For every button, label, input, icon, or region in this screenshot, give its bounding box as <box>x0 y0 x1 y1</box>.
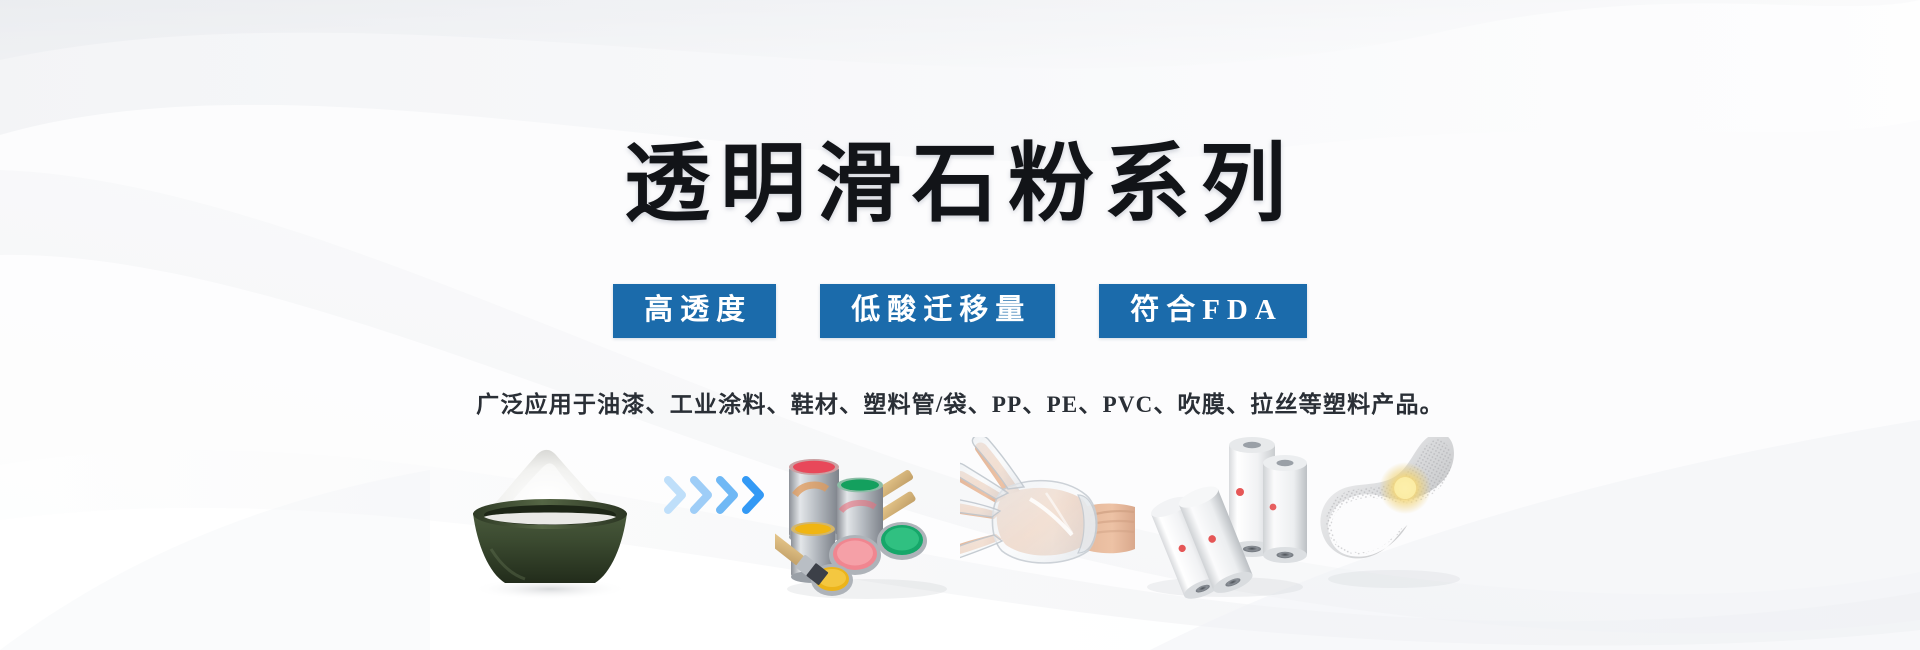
product-image-strip <box>0 432 1920 607</box>
arrow-sequence-icon <box>655 437 775 607</box>
page-title: 透明滑石粉系列 <box>624 136 1296 232</box>
chevron-right-icon <box>664 476 688 514</box>
chevron-right-icon <box>742 476 766 514</box>
shoe-sole-image <box>1310 437 1475 607</box>
chevron-right-icon <box>690 476 714 514</box>
gloved-hand-image <box>960 437 1135 607</box>
chevron-right-icon <box>716 476 740 514</box>
paint-cans-image <box>775 437 960 607</box>
feature-badge-low-acid-migration: 低酸迁移量 <box>820 284 1055 338</box>
feature-badge-high-transparency: 高透度 <box>613 284 776 338</box>
plastic-film-rolls-image <box>1135 437 1310 607</box>
description-container: 广泛应用于油漆、工业涂料、鞋材、塑料管/袋、PP、PE、PVC、吹膜、拉丝等塑料… <box>0 362 1920 442</box>
product-banner: 透明滑石粉系列 高透度 低酸迁移量 符合FDA 广泛应用于油漆、工业涂料、鞋材、… <box>0 0 1920 650</box>
feature-badge-list: 高透度 低酸迁移量 符合FDA <box>0 284 1920 338</box>
title-container: 透明滑石粉系列 <box>0 78 1920 290</box>
feature-badge-fda-compliant: 符合FDA <box>1099 284 1307 338</box>
application-description: 广泛应用于油漆、工业涂料、鞋材、塑料管/袋、PP、PE、PVC、吹膜、拉丝等塑料… <box>476 385 1444 419</box>
talc-powder-bowl-image <box>445 437 655 607</box>
